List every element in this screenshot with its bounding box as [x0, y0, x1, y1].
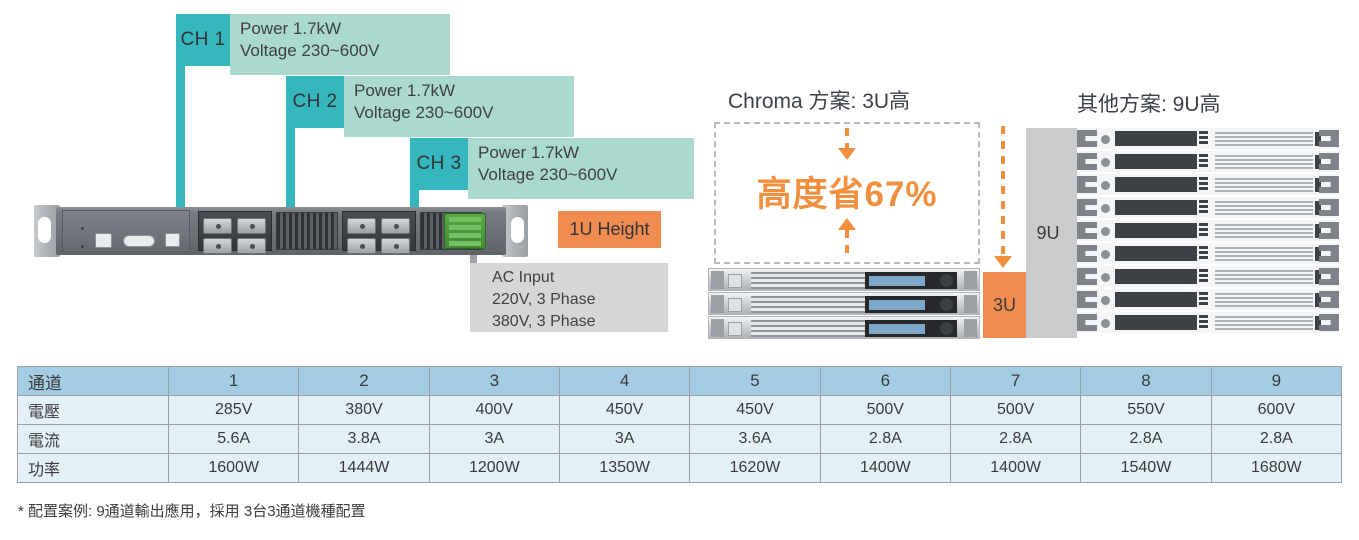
- table-row: 電流 5.6A 3.8A 3A 3A 3.6A 2.8A 2.8A 2.8A 2…: [18, 425, 1342, 454]
- table-header-cell: 9: [1211, 367, 1341, 396]
- table-cell: 2.8A: [1081, 425, 1211, 454]
- chroma-unit-stack: [708, 268, 980, 340]
- other-unit: [1077, 197, 1339, 218]
- other-unit: [1077, 128, 1339, 149]
- other-unit: [1077, 243, 1339, 264]
- infographic-stage: CH 1 Power 1.7kW Voltage 230~600V CH 2 P…: [0, 0, 1359, 540]
- table-footnote: * 配置案例: 9通道輸出應用，採用 3台3通道機種配置: [18, 500, 366, 521]
- table-cell: 1680W: [1211, 454, 1341, 483]
- bar-9u: 9U: [1026, 128, 1070, 338]
- table-cell: 450V: [690, 396, 820, 425]
- table-cell: 3.8A: [299, 425, 429, 454]
- table-cell: 500V: [820, 396, 950, 425]
- height-badge: 1U Height: [558, 211, 661, 248]
- up-arrow-head-inner: [838, 218, 856, 230]
- chroma-solution-title: Chroma 方案: 3U高: [728, 85, 910, 115]
- ac-input-terminal: [444, 213, 486, 249]
- table-header-cell: 6: [820, 367, 950, 396]
- table-cell: 2.8A: [1211, 425, 1341, 454]
- table-row: 功率 1600W 1444W 1200W 1350W 1620W 1400W 1…: [18, 454, 1342, 483]
- table-header-cell: 1: [169, 367, 299, 396]
- channel-tag-3: CH 3: [410, 138, 468, 190]
- chroma-unit: [708, 268, 980, 291]
- usb-port-icon: [165, 233, 180, 247]
- height-saving-text: 高度省67%: [714, 166, 980, 217]
- other-solution-title: 其他方案: 9U高: [1077, 88, 1221, 118]
- channel-tag-2-label: CH 2: [293, 91, 338, 113]
- other-unit: [1077, 266, 1339, 287]
- table-row: 電壓 285V 380V 400V 450V 450V 500V 500V 55…: [18, 396, 1342, 425]
- row-label: 功率: [18, 454, 169, 483]
- measure-arrow-shaft: [1001, 126, 1005, 256]
- bar-9u-label: 9U: [1036, 223, 1059, 244]
- other-unit-stack: [1077, 128, 1339, 338]
- table-cell: 2.8A: [950, 425, 1080, 454]
- bar-3u: 3U: [983, 272, 1026, 338]
- io-panel: [62, 210, 190, 252]
- channel-tag-3-label: CH 3: [417, 153, 462, 175]
- table-header-cell: 7: [950, 367, 1080, 396]
- table-cell: 3A: [429, 425, 559, 454]
- table-cell: 450V: [559, 396, 689, 425]
- device-front-panel: [34, 205, 528, 257]
- down-arrow-head-inner: [838, 148, 856, 160]
- other-unit: [1077, 312, 1339, 333]
- table-cell: 1400W: [950, 454, 1080, 483]
- other-unit: [1077, 174, 1339, 195]
- table-cell: 600V: [1211, 396, 1341, 425]
- table-header-cell: 4: [559, 367, 689, 396]
- channel-tag-2: CH 2: [286, 76, 344, 128]
- measure-arrow-head: [994, 256, 1012, 268]
- table-header-cell: 2: [299, 367, 429, 396]
- rack-side-rail: [1070, 128, 1077, 338]
- other-unit: [1077, 220, 1339, 241]
- table-cell: 3.6A: [690, 425, 820, 454]
- lan-port-icon: [95, 233, 112, 248]
- channel-spec-table: 通道 1 2 3 4 5 6 7 8 9 電壓 285V 380V 400V 4…: [17, 366, 1342, 483]
- serial-port-icon: [123, 235, 155, 247]
- chroma-unit: [708, 316, 980, 339]
- table-header-cell: 3: [429, 367, 559, 396]
- table-header-cell: 8: [1081, 367, 1211, 396]
- table-cell: 380V: [299, 396, 429, 425]
- table-cell: 1620W: [690, 454, 820, 483]
- table-cell: 500V: [950, 396, 1080, 425]
- table-header-row: 通道 1 2 3 4 5 6 7 8 9: [18, 367, 1342, 396]
- table-cell: 2.8A: [820, 425, 950, 454]
- output-module-1: [198, 211, 272, 251]
- table-cell: 285V: [169, 396, 299, 425]
- device-chassis: [56, 207, 506, 255]
- other-unit: [1077, 289, 1339, 310]
- table-cell: 400V: [429, 396, 559, 425]
- table-cell: 550V: [1081, 396, 1211, 425]
- vent-grille-1: [276, 212, 338, 250]
- channel-desc-2: Power 1.7kW Voltage 230~600V: [344, 76, 574, 137]
- table-cell: 1444W: [299, 454, 429, 483]
- table-cell: 1600W: [169, 454, 299, 483]
- table-cell: 3A: [559, 425, 689, 454]
- row-label: 電壓: [18, 396, 169, 425]
- table-cell: 1200W: [429, 454, 559, 483]
- output-module-2: [342, 211, 416, 251]
- height-badge-label: 1U Height: [569, 219, 649, 240]
- row-label: 電流: [18, 425, 169, 454]
- table-cell: 5.6A: [169, 425, 299, 454]
- channel-tag-1-label: CH 1: [181, 29, 226, 51]
- table-cell: 1400W: [820, 454, 950, 483]
- up-arrow-shaft-inner: [845, 230, 849, 258]
- ac-input-callout: AC Input 220V, 3 Phase 380V, 3 Phase: [470, 263, 668, 332]
- table-cell: 1540W: [1081, 454, 1211, 483]
- channel-desc-3: Power 1.7kW Voltage 230~600V: [468, 138, 694, 199]
- table-header-cell: 5: [690, 367, 820, 396]
- channel-desc-1: Power 1.7kW Voltage 230~600V: [230, 14, 450, 75]
- chroma-unit: [708, 292, 980, 315]
- other-unit: [1077, 151, 1339, 172]
- down-arrow-shaft-inner: [845, 128, 849, 150]
- table-cell: 1350W: [559, 454, 689, 483]
- table-header-cell: 通道: [18, 367, 169, 396]
- channel-tag-1: CH 1: [176, 14, 230, 66]
- bar-3u-label: 3U: [993, 295, 1016, 316]
